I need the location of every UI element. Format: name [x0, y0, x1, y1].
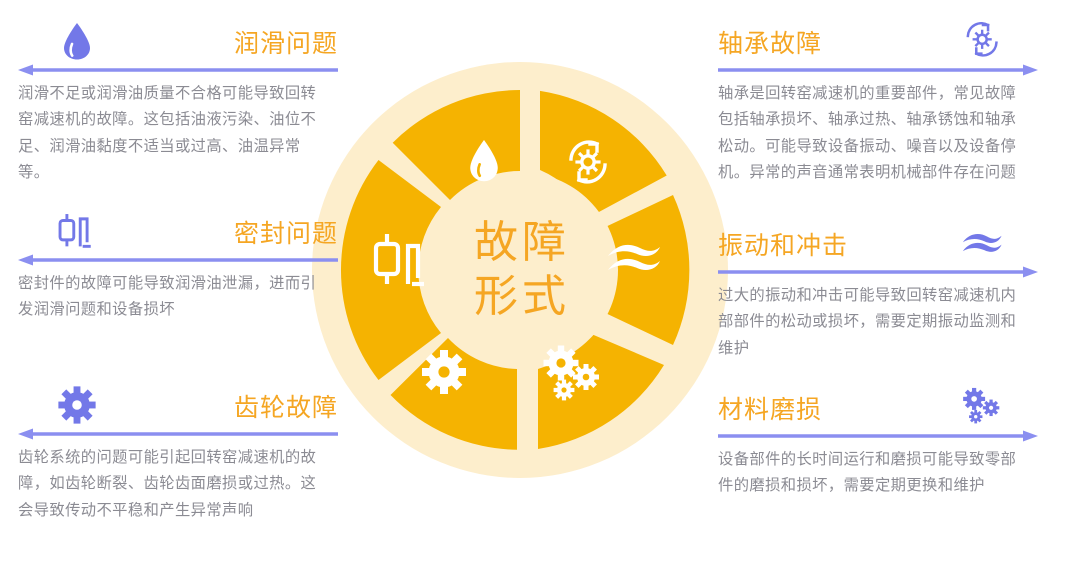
topic-header: 材料磨损 — [718, 382, 1038, 428]
arrow-left — [18, 64, 338, 76]
waves-icon — [962, 222, 1004, 264]
topic-title: 齿轮故障 — [234, 388, 338, 424]
arrow-right — [718, 64, 1038, 76]
topic-block-bearing[interactable]: 轴承故障 轴承是回转窑减速机的重要部件，常见故障包括轴承损坏、轴承过热、轴承锈蚀… — [718, 16, 1038, 186]
arrow-left — [18, 254, 338, 266]
topic-title: 材料磨损 — [718, 390, 822, 426]
topic-block-lubrication[interactable]: 润滑问题 润滑不足或润滑油质量不合格可能导致回转窑减速机的故障。这包括油液污染、… — [18, 16, 338, 186]
topic-title: 振动和冲击 — [718, 226, 848, 262]
topic-header: 齿轮故障 — [18, 380, 338, 426]
topic-body: 轴承是回转窑减速机的重要部件，常见故障包括轴承损坏、轴承过热、轴承锈蚀和轴承松动… — [718, 81, 1018, 186]
infographic-canvas: 故障 形式 润滑问题 润滑不足或润滑油质量不合格可能导致回转窑减速机的故障。这包… — [0, 0, 1080, 564]
arrow-right — [718, 430, 1038, 442]
oil-drop-icon — [56, 20, 98, 62]
topic-body: 密封件的故障可能导致润滑油泄漏，进而引发润滑问题和设备损坏 — [18, 271, 324, 324]
topic-block-gear[interactable]: 齿轮故障 齿轮系统的问题可能引起回转窑减速机的故障，如齿轮断裂、齿轮齿面磨损或过… — [18, 380, 338, 524]
seal-icon — [56, 210, 98, 252]
arrow-right — [718, 266, 1038, 278]
topic-header: 振动和冲击 — [718, 218, 1038, 264]
topic-body: 齿轮系统的问题可能引起回转窑减速机的故障，如齿轮断裂、齿轮齿面磨损或过热。这会导… — [18, 445, 324, 524]
topic-header: 密封问题 — [18, 206, 338, 252]
gear-icon — [56, 384, 98, 426]
topic-header: 润滑问题 — [18, 16, 338, 62]
topic-block-seal[interactable]: 密封问题 密封件的故障可能导致润滑油泄漏，进而引发润滑问题和设备损坏 — [18, 206, 338, 324]
topic-header: 轴承故障 — [718, 16, 1038, 62]
topic-title: 轴承故障 — [718, 24, 822, 60]
topic-block-wear[interactable]: 材料磨损 设备部件的长时间运行和磨损可能导致零部件的磨损和损坏，需要定期更换和维… — [718, 382, 1038, 500]
topic-body: 设备部件的长时间运行和磨损可能导致零部件的磨损和损坏，需要定期更换和维护 — [718, 447, 1018, 500]
arrow-left — [18, 428, 338, 440]
fault-type-wheel — [312, 62, 728, 478]
topic-body: 润滑不足或润滑油质量不合格可能导致回转窑减速机的故障。这包括油液污染、油位不足、… — [18, 81, 324, 186]
gears-group-icon — [962, 386, 1004, 428]
topic-block-vibration[interactable]: 振动和冲击 过大的振动和冲击可能导致回转窑减速机内部部件的松动或损坏，需要定期振… — [718, 218, 1038, 362]
wheel-hub — [422, 172, 618, 368]
topic-title: 密封问题 — [234, 214, 338, 250]
topic-body: 过大的振动和冲击可能导致回转窑减速机内部部件的松动或损坏，需要定期振动监测和维护 — [718, 283, 1018, 362]
topic-title: 润滑问题 — [234, 24, 338, 60]
gear-refresh-icon — [962, 20, 1004, 62]
gear-icon — [422, 350, 466, 394]
